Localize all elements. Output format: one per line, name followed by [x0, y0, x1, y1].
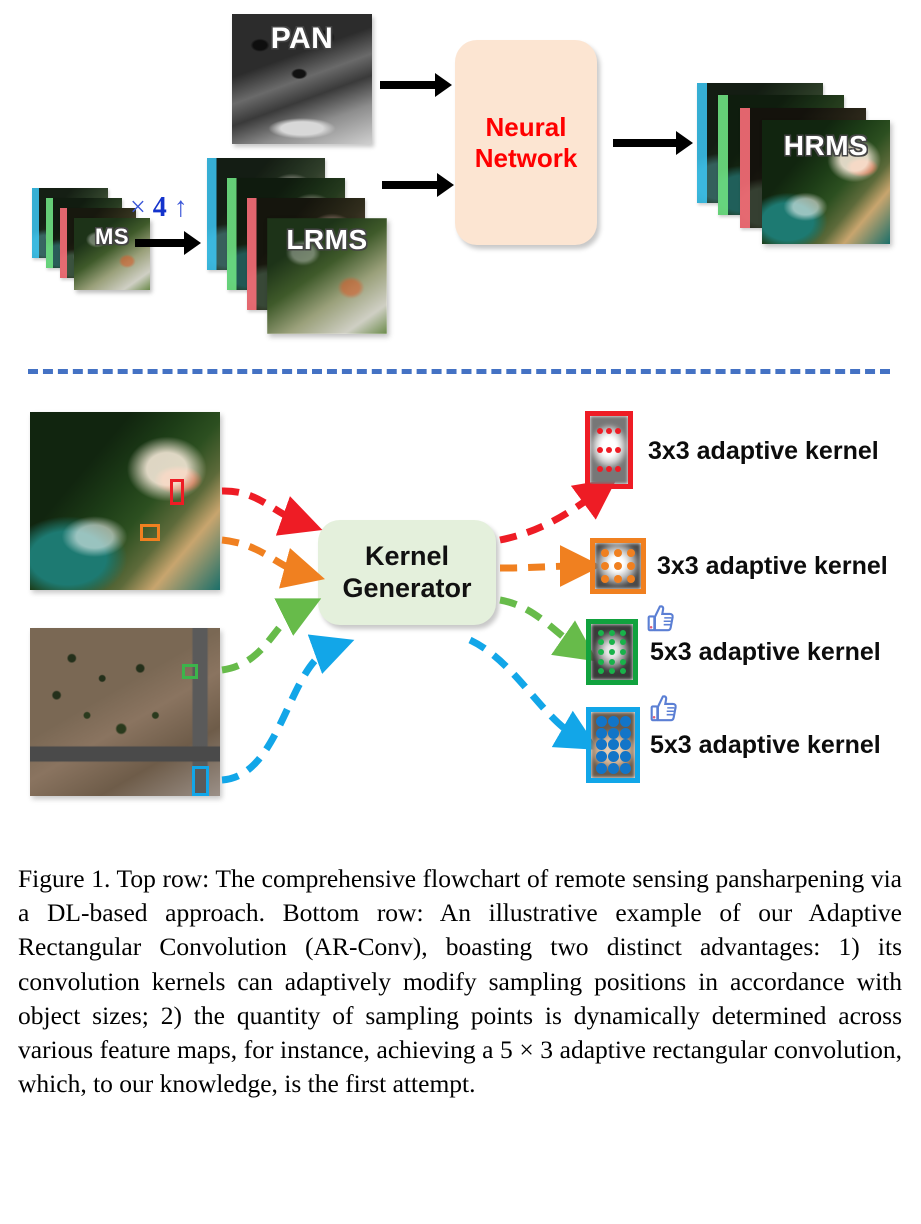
kernel-caption-2: 3x3 adaptive kernel — [657, 552, 888, 581]
neural-network-line2: Network — [475, 143, 578, 173]
kernel-generator-line2: Generator — [342, 573, 471, 603]
arrow-head — [435, 73, 452, 97]
kernel-3-dots — [591, 624, 633, 680]
ms-band-4: MS — [74, 218, 150, 290]
kernel-generator-label: Kernel Generator — [342, 541, 471, 605]
arid-source-image — [30, 628, 220, 796]
kernel-generator-line1: Kernel — [365, 541, 449, 571]
kernel-box-4 — [586, 707, 640, 783]
arrow-generator-to-kernel-3 — [500, 600, 578, 648]
arid-region-green — [182, 664, 198, 679]
arrow-head — [676, 131, 693, 155]
thumbs-up-icon-4 — [648, 692, 682, 731]
kernel-box-3 — [586, 619, 638, 685]
arrow-generator-to-kernel-4 — [470, 640, 578, 738]
figure-panel: PAN MS × 4 ↑ — [0, 0, 921, 840]
kernel-caption-3: 5x3 adaptive kernel — [650, 638, 881, 667]
coast-region-orange — [140, 524, 160, 541]
arrow-shaft — [613, 139, 677, 147]
arid-region-blue — [192, 766, 209, 796]
hrms-band-4: HRMS — [762, 120, 890, 244]
upsample-factor: 4 — [153, 192, 167, 223]
neural-network-line1: Neural — [486, 112, 567, 142]
kernel-box-2 — [590, 538, 646, 594]
pan-label: PAN — [232, 22, 372, 56]
kernel-box-1 — [585, 411, 633, 489]
coast-source-image — [30, 412, 220, 590]
neural-network-label: Neural Network — [475, 112, 578, 173]
coast-region-red — [170, 479, 184, 505]
arrow-red-to-generator — [222, 491, 300, 522]
pan-image: PAN — [232, 14, 372, 144]
arrow-generator-to-kernel-1 — [500, 492, 598, 540]
coast-image-content — [30, 412, 220, 590]
section-divider — [28, 369, 890, 374]
up-arrow-icon: ↑ — [174, 192, 188, 223]
arrow-blue-to-generator — [222, 648, 332, 780]
lrms-label: LRMS — [267, 224, 387, 256]
upsample-annotation: × 4 ↑ — [130, 192, 188, 224]
kernel-2-dots — [595, 543, 641, 589]
kernel-1-dots — [590, 416, 628, 484]
thumbs-up-icon-3 — [645, 602, 679, 641]
arrow-shaft — [382, 181, 438, 189]
arrow-head — [184, 231, 201, 255]
arrow-generator-to-kernel-2 — [500, 566, 578, 568]
arrow-green-to-generator — [222, 609, 300, 670]
kernel-generator-box[interactable]: Kernel Generator — [318, 520, 496, 625]
kernel-4-dots — [591, 712, 635, 778]
arrow-shaft — [135, 239, 185, 247]
figure-caption: Figure 1. Top row: The comprehensive flo… — [18, 862, 902, 1101]
multiply-icon: × — [130, 192, 146, 223]
arrow-shaft — [380, 81, 436, 89]
arrow-orange-to-generator — [222, 540, 302, 573]
lrms-band-4: LRMS — [267, 218, 387, 334]
neural-network-box[interactable]: Neural Network — [455, 40, 597, 245]
hrms-label: HRMS — [762, 130, 890, 162]
kernel-caption-1: 3x3 adaptive kernel — [648, 437, 879, 466]
kernel-caption-4: 5x3 adaptive kernel — [650, 731, 881, 760]
arrow-head — [437, 173, 454, 197]
